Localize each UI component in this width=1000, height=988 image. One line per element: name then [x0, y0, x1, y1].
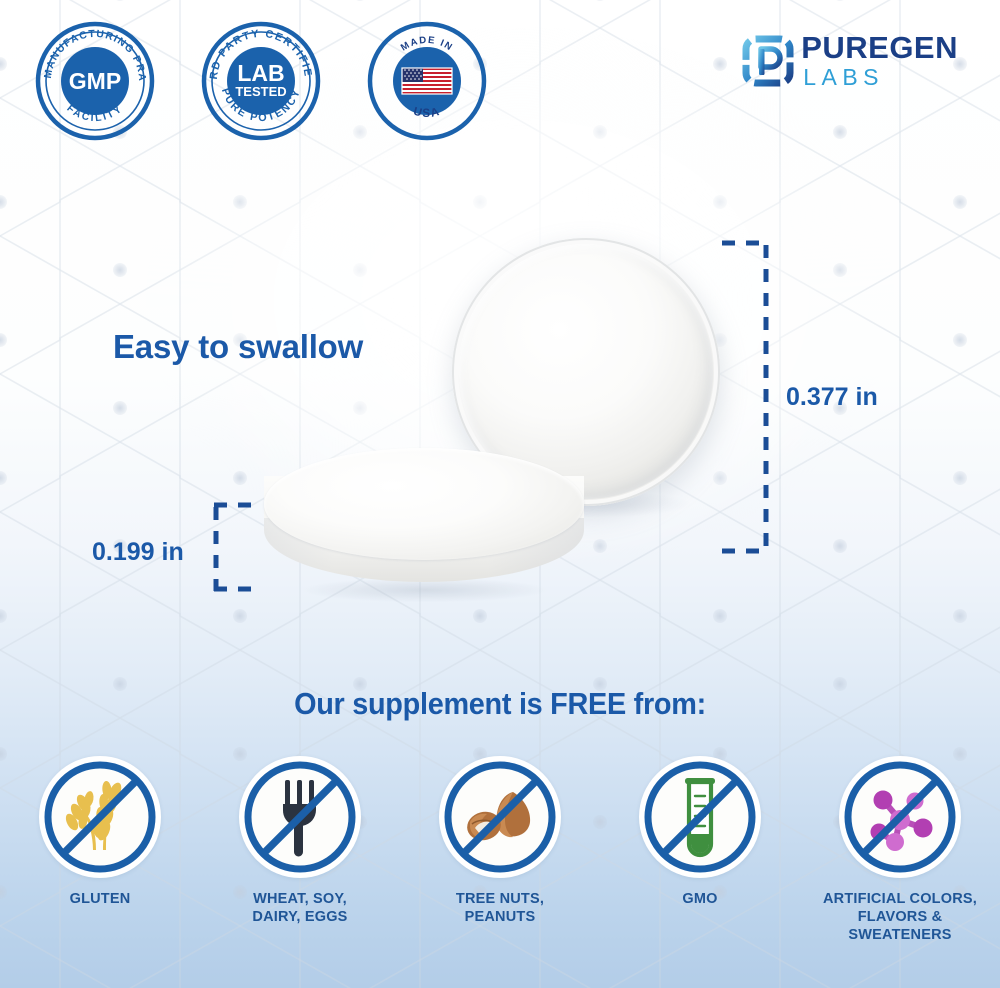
made-in-usa-badge: MADE IN USA	[366, 20, 488, 142]
free-from-label-gluten: GLUTEN	[70, 890, 131, 908]
tree-nuts-peanuts-no-icon	[439, 756, 561, 878]
gluten-no-icon	[39, 756, 161, 878]
free-from-heading: Our supplement is FREE from:	[35, 686, 965, 722]
artificial-colors-no-icon	[839, 756, 961, 878]
free-from-label-artificial-colors: ARTIFICIAL COLORS, FLAVORS & SWEATENERS	[816, 890, 984, 944]
easy-to-swallow-headline: Easy to swallow	[113, 328, 363, 366]
us-flag-icon	[402, 68, 452, 94]
tablet-flat-top	[264, 448, 584, 560]
lab-center-line1: LAB	[237, 60, 284, 86]
brand-logo: PUREGEN LABS	[742, 32, 958, 89]
lab-tested-badge: 3RD PARTY CERTIFIED PURE POTENCY LAB TES…	[200, 20, 322, 142]
free-from-list: GLUTEN WHEAT, SOY, DAIRY, EGGS	[0, 756, 1000, 944]
free-from-item-gmo: GMO	[616, 756, 784, 908]
free-from-item-tree-nuts-peanuts: TREE NUTS, PEANUTS	[416, 756, 584, 926]
dimension-height-label: 0.377 in	[786, 383, 878, 412]
free-from-label-gmo: GMO	[682, 890, 717, 908]
tablet-illustration	[0, 210, 1000, 650]
wheat-soy-dairy-eggs-no-icon	[239, 756, 361, 878]
logo-name-top: PUREGEN	[801, 32, 958, 63]
lab-center-line2: TESTED	[235, 84, 286, 99]
gmp-center-text: GMP	[69, 68, 121, 94]
gmo-no-icon	[639, 756, 761, 878]
infographic-canvas: GOOD MANUFACTURING PRACTICE FACILITY GMP…	[0, 0, 1000, 988]
free-from-label-tree-nuts-peanuts: TREE NUTS, PEANUTS	[456, 890, 544, 926]
free-from-label-wheat-soy-dairy-eggs: WHEAT, SOY, DAIRY, EGGS	[252, 890, 347, 926]
gmp-badge: GOOD MANUFACTURING PRACTICE FACILITY GMP	[34, 20, 156, 142]
puregen-hex-p-icon	[742, 35, 794, 87]
free-from-item-wheat-soy-dairy-eggs: WHEAT, SOY, DAIRY, EGGS	[216, 756, 384, 926]
free-from-item-gluten: GLUTEN	[16, 756, 184, 908]
logo-name-bottom: LABS	[803, 66, 958, 89]
certification-badges: GOOD MANUFACTURING PRACTICE FACILITY GMP…	[34, 20, 488, 142]
dimension-thickness-label: 0.199 in	[92, 538, 184, 567]
tablet-flat-icon	[264, 448, 584, 606]
free-from-item-artificial-colors: ARTIFICIAL COLORS, FLAVORS & SWEATENERS	[816, 756, 984, 944]
